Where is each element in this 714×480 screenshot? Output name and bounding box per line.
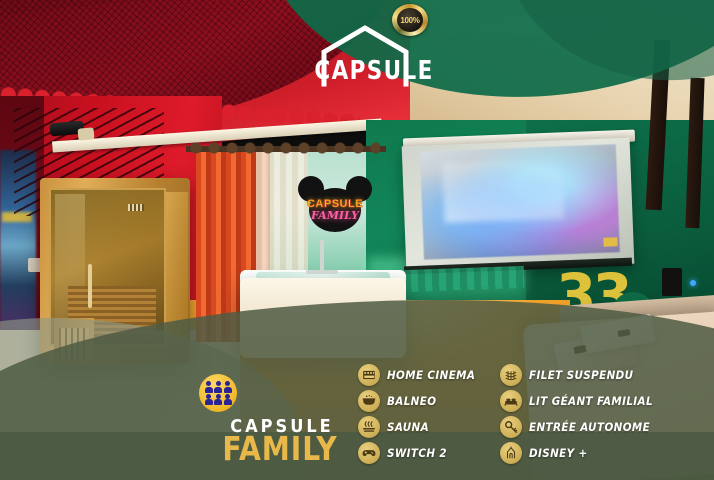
listing-image: CAPSULE FAMILY 33 xyxy=(0,0,714,480)
room-wall-sign: CAPSULE FAMILY xyxy=(296,176,374,232)
feature-label: ENTRÉE AUTONOME xyxy=(529,420,650,434)
feature-item-lit-geant: LIT GÉANT FAMILIAL xyxy=(500,390,708,412)
footer-title-family: FAMILY xyxy=(217,432,342,465)
quality-badge: 100% xyxy=(389,2,431,38)
footer-brand: CAPSULE FAMILY xyxy=(196,372,346,468)
person-figure xyxy=(224,381,232,392)
feature-item-home-cinema: HOME CINEMA xyxy=(358,364,496,386)
projected-subtitle-block xyxy=(603,237,617,247)
sauna-control-panel xyxy=(128,204,144,211)
person-figure xyxy=(214,394,222,405)
feature-item-disney-plus: DISNEY + xyxy=(500,442,708,464)
speaker-box xyxy=(662,268,682,296)
feature-label: SWITCH 2 xyxy=(387,446,447,460)
feature-item-filet-suspendu: FILET SUSPENDU xyxy=(500,364,708,386)
feature-item-sauna: SAUNA xyxy=(358,416,496,438)
family-group-figures xyxy=(205,381,232,405)
badge-inner: 100% xyxy=(397,8,423,32)
spotlight-2 xyxy=(78,127,95,140)
family-group-icon xyxy=(199,374,237,412)
net-icon xyxy=(500,364,522,386)
feature-list: HOME CINEMA FILET SUSPENDU BALNEO xyxy=(358,362,708,474)
projector-screen xyxy=(402,138,635,273)
feature-item-entree-autonome: ENTRÉE AUTONOME xyxy=(500,416,708,438)
blue-led-light xyxy=(690,280,696,286)
sauna-door-handle xyxy=(88,264,92,308)
feature-label: FILET SUSPENDU xyxy=(529,368,633,382)
person-figure xyxy=(224,394,232,405)
feature-label: BALNEO xyxy=(387,394,436,408)
feature-label: SAUNA xyxy=(387,420,429,434)
projector-beam xyxy=(442,158,564,223)
gamepad-icon xyxy=(358,442,380,464)
person-figure xyxy=(205,381,213,392)
person-figure xyxy=(205,394,213,405)
steam-sauna-icon xyxy=(358,416,380,438)
bathtub-icon xyxy=(358,390,380,412)
jacuzzi-faucet xyxy=(320,240,324,274)
feature-label: HOME CINEMA xyxy=(387,368,475,382)
room-sign-family: FAMILY xyxy=(305,209,365,222)
feature-item-balneo: BALNEO xyxy=(358,390,496,412)
film-reel-icon xyxy=(358,364,380,386)
person-figure xyxy=(214,381,222,392)
disney-castle-icon xyxy=(500,442,522,464)
feature-label: DISNEY + xyxy=(529,446,588,460)
green-valance xyxy=(404,266,525,292)
key-icon xyxy=(500,416,522,438)
feature-item-switch: SWITCH 2 xyxy=(358,442,496,464)
feature-label: LIT GÉANT FAMILIAL xyxy=(529,394,653,408)
bed-icon xyxy=(500,390,522,412)
curtain-rings xyxy=(190,142,380,154)
brand-logo-text: CAPSULE xyxy=(314,56,415,86)
badge-percent-text: 100% xyxy=(400,16,419,25)
